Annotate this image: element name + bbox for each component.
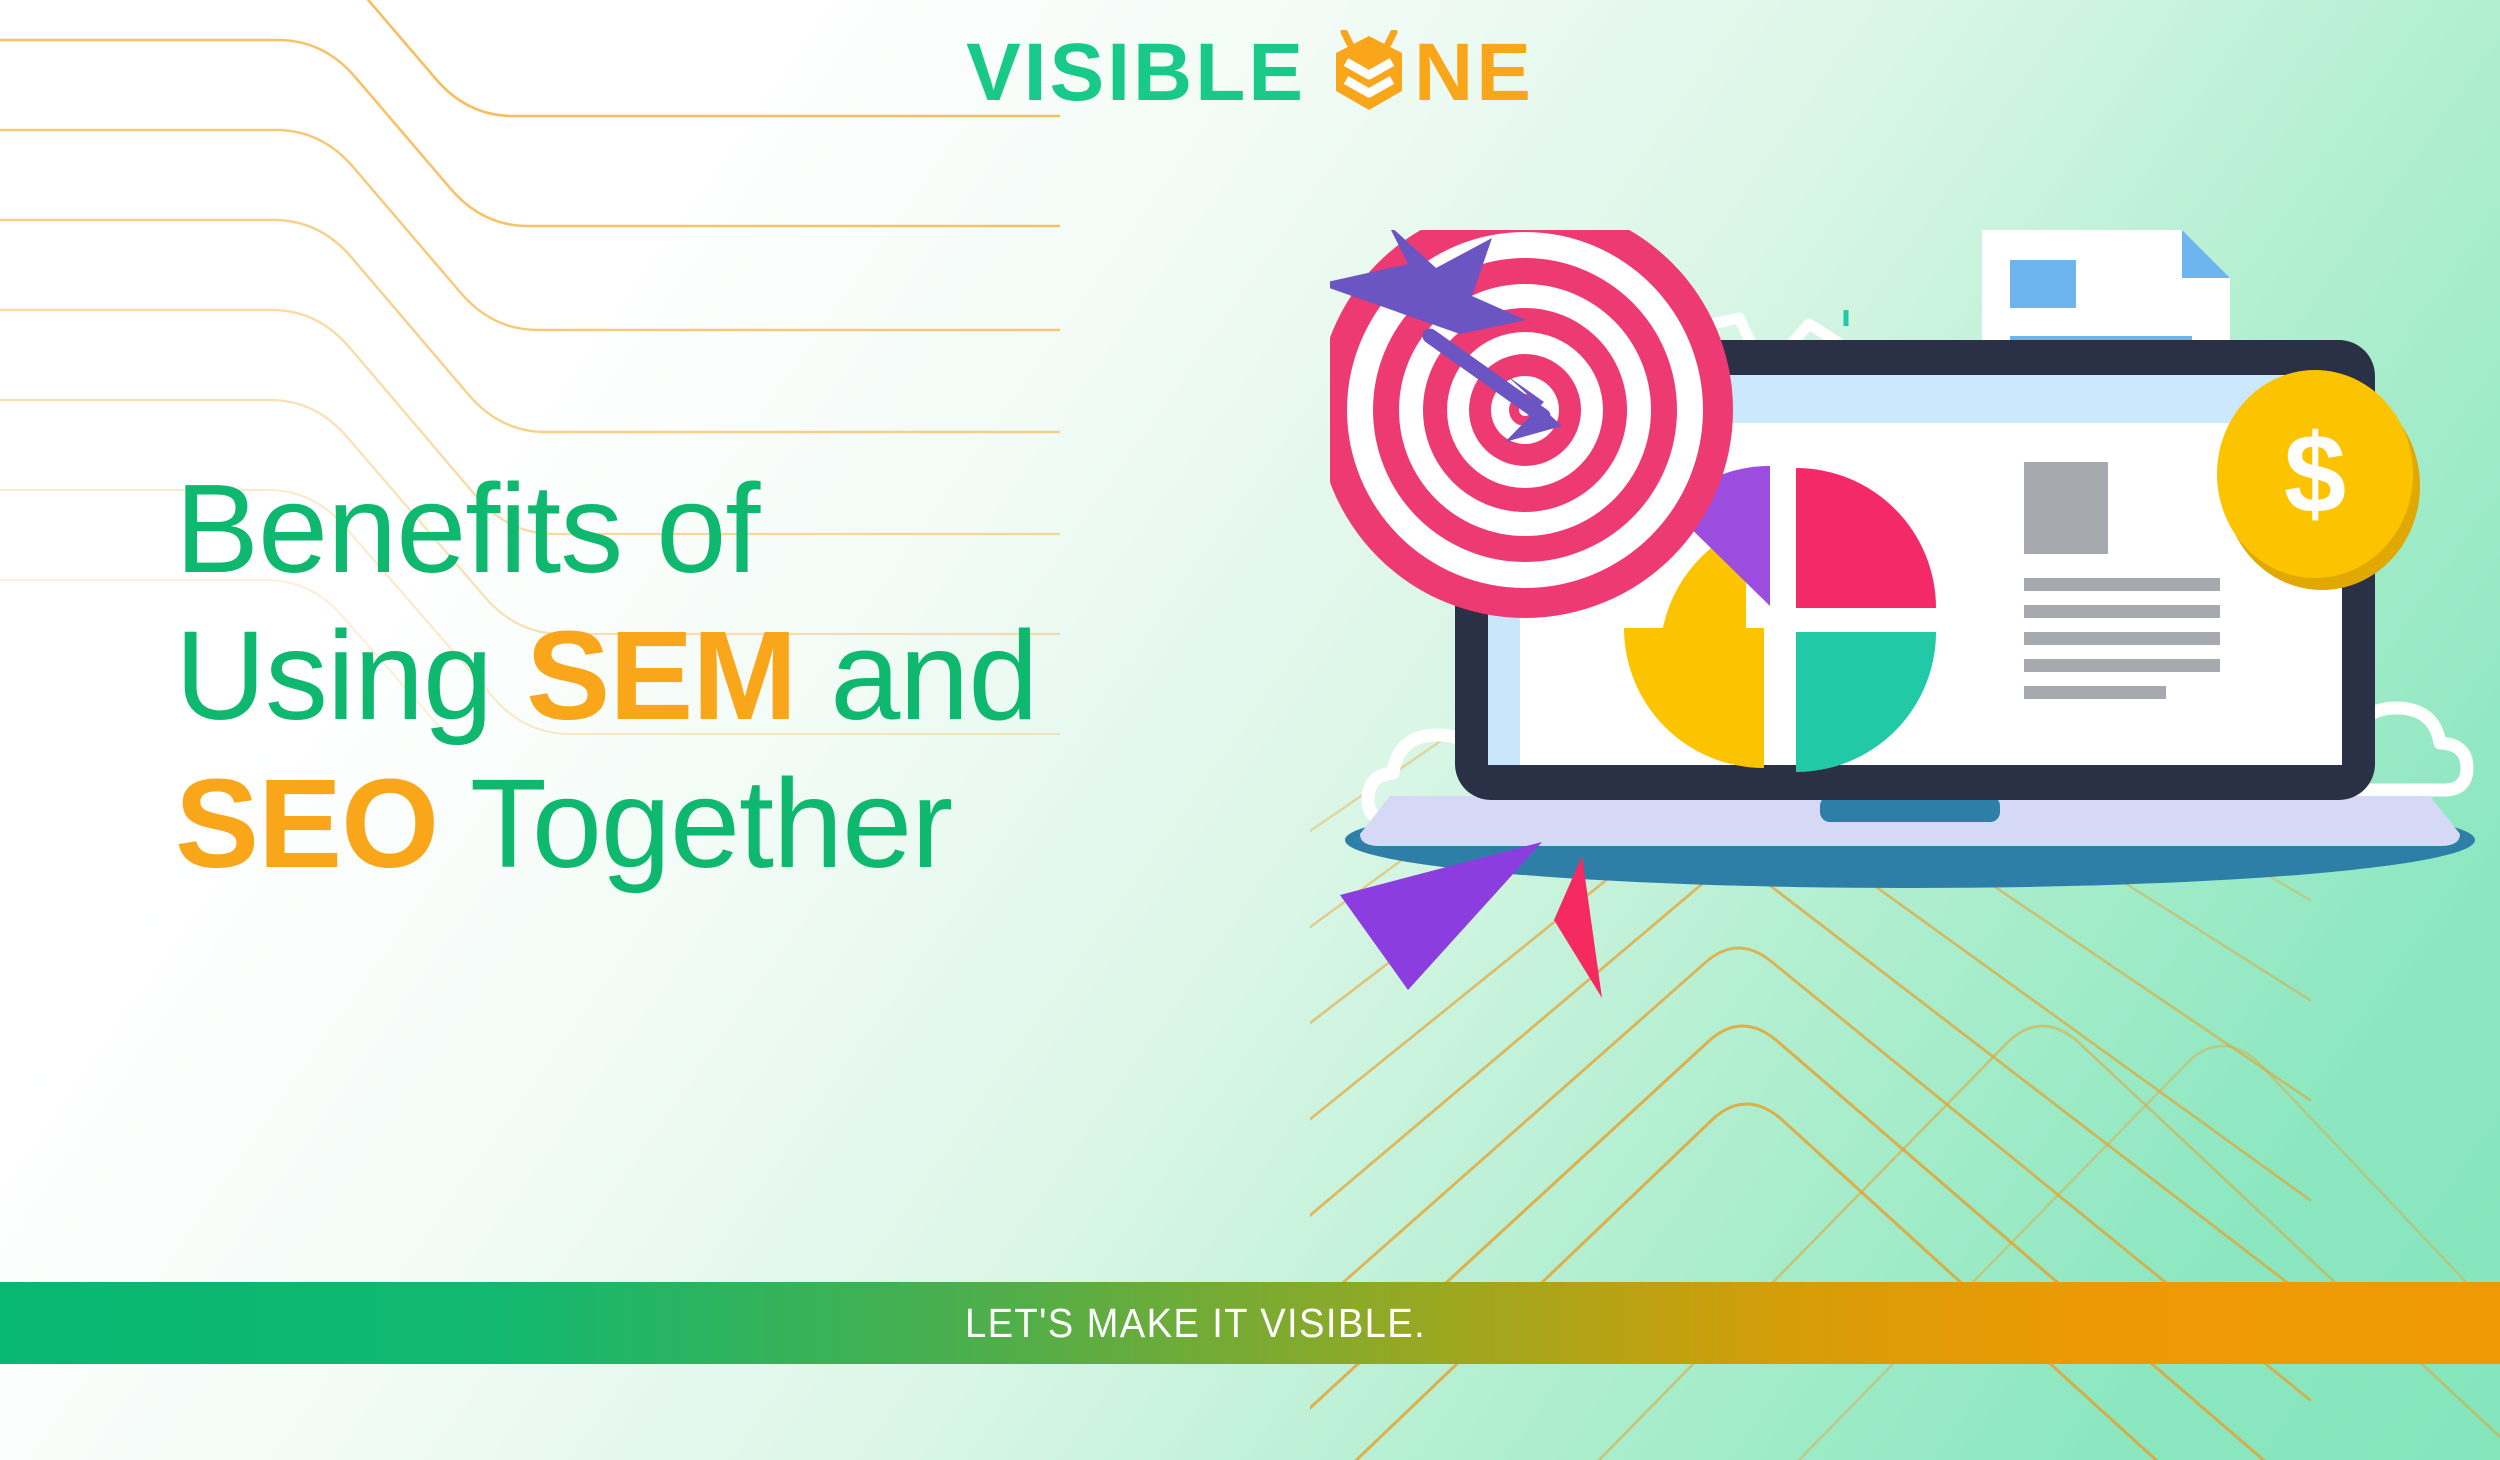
- footer-tagline-bar: LET'S MAKE IT VISIBLE.: [0, 1282, 2500, 1364]
- logo-text-one: NE: [1414, 32, 1534, 114]
- headline-accent-seo: SEO: [175, 753, 438, 894]
- footer-tagline-text: LET'S MAKE IT VISIBLE.: [965, 1300, 1426, 1347]
- svg-text:$: $: [2284, 411, 2346, 536]
- headline-line-2: Using SEM and: [175, 602, 1295, 749]
- headline-line-1: Benefits of: [175, 455, 1295, 602]
- headline-line-1-text: Benefits of: [175, 458, 759, 599]
- headline-line-2-suffix: and: [796, 605, 1037, 746]
- brand-logo[interactable]: VISIBLE NE: [0, 28, 2500, 118]
- headline-accent-sem: SEM: [526, 605, 796, 746]
- marketing-banner: VISIBLE NE Benefits of Using SEM and SEO…: [0, 0, 2500, 1460]
- headline-line-2-prefix: Using: [175, 605, 526, 746]
- headline-block: Benefits of Using SEM and SEO Together: [175, 455, 1295, 897]
- logo-text-visible: VISIBLE: [966, 32, 1306, 114]
- seo-sem-analytics-illustration: $: [1330, 230, 2500, 1130]
- bee-hexagon-icon: [1330, 30, 1408, 116]
- headline-line-3-suffix: Together: [438, 753, 952, 894]
- headline-line-3: SEO Together: [175, 750, 1295, 897]
